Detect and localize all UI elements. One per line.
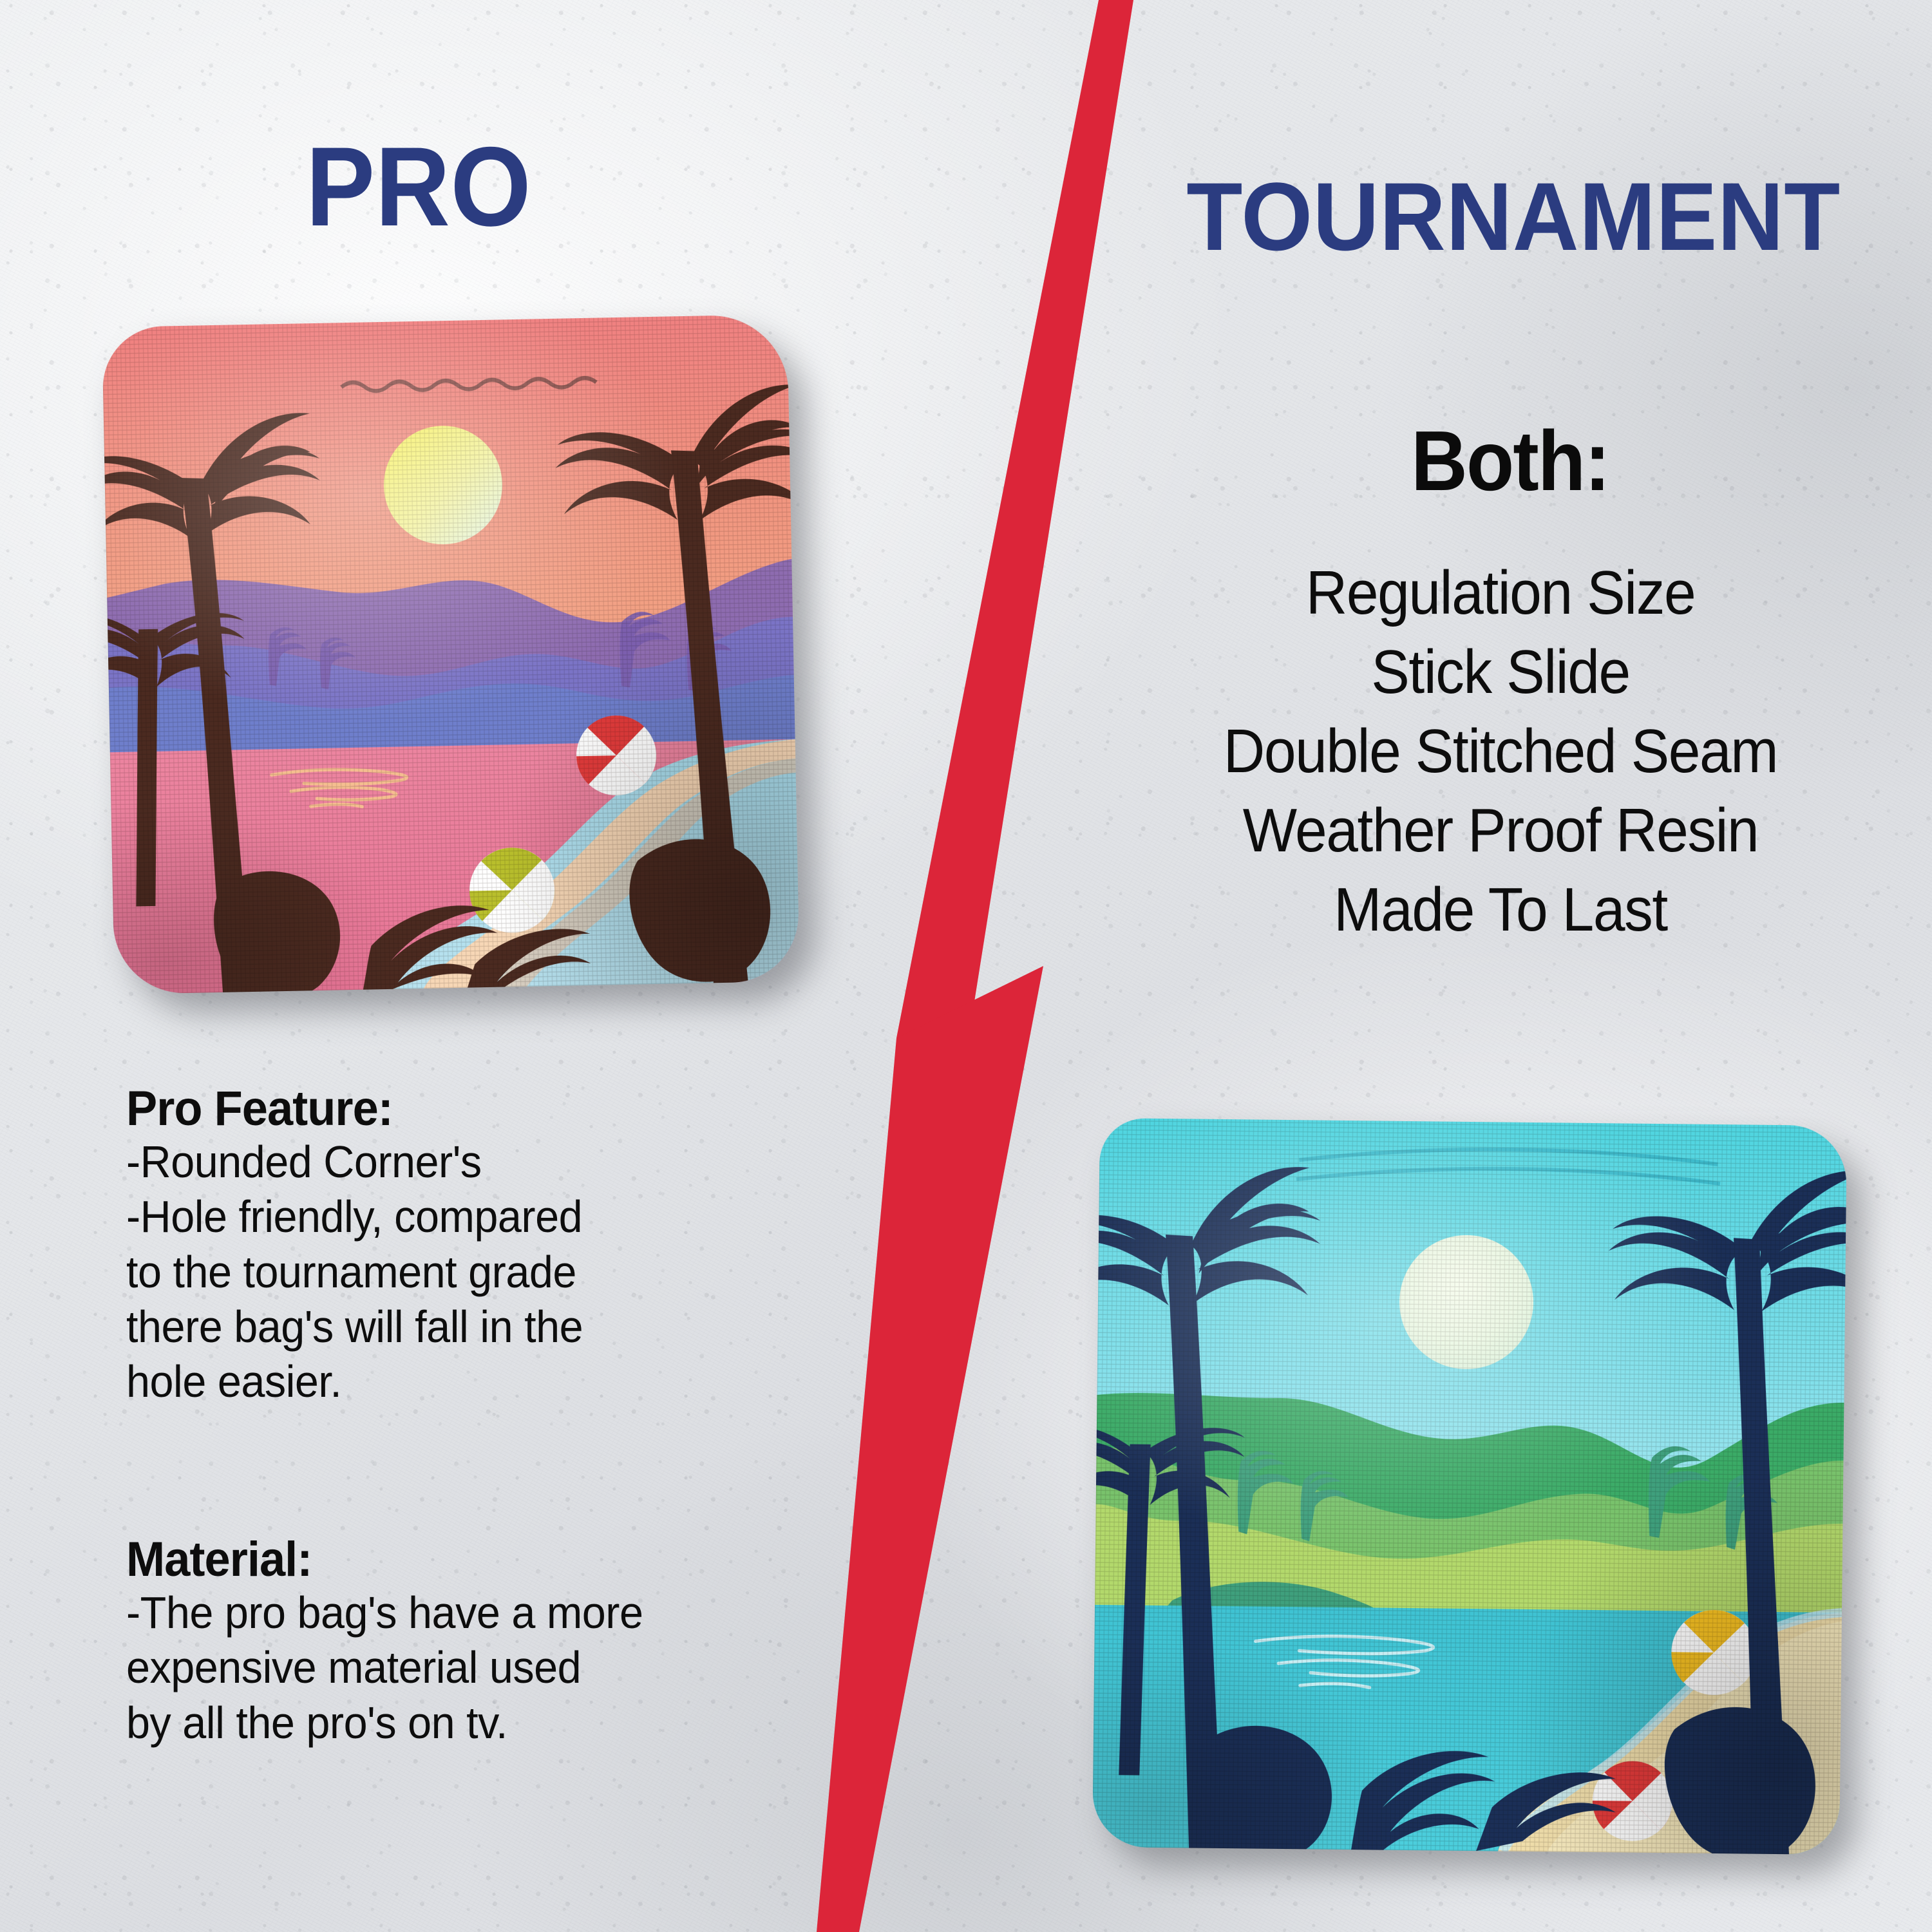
- material-heading: Material:: [126, 1534, 714, 1586]
- material-line: -The pro bag's have a more: [126, 1586, 714, 1640]
- pro-feature-body: -Rounded Corner's -Hole friendly, compar…: [126, 1135, 714, 1410]
- tournament-bag-image: [1092, 1118, 1847, 1855]
- pro-column-title: PRO: [33, 122, 804, 252]
- pro-feature-line: -Hole friendly, compared: [126, 1189, 714, 1244]
- pro-feature-line: hole easier.: [126, 1354, 714, 1409]
- tournament-column-title: TOURNAMENT: [1116, 161, 1911, 272]
- both-feature-item: Stick Slide: [1099, 633, 1902, 712]
- material-section: Material: -The pro bag's have a more exp…: [126, 1534, 714, 1750]
- both-heading: Both:: [1128, 412, 1893, 509]
- tournament-bag-artwork: [1092, 1118, 1847, 1855]
- material-body: -The pro bag's have a more expensive mat…: [126, 1586, 714, 1750]
- both-feature-list: Regulation Size Stick Slide Double Stitc…: [1099, 554, 1902, 949]
- pro-feature-section: Pro Feature: -Rounded Corner's -Hole fri…: [126, 1083, 714, 1410]
- material-line: by all the pro's on tv.: [126, 1696, 714, 1750]
- pro-bag-image: [102, 314, 800, 994]
- comparison-graphic: PRO TOURNAMENT: [0, 0, 1932, 1932]
- both-feature-item: Regulation Size: [1099, 554, 1902, 633]
- material-line: expensive material used: [126, 1640, 714, 1695]
- pro-feature-line: there bag's will fall in the: [126, 1300, 714, 1354]
- bolt-upper-segment: [896, 0, 1133, 1038]
- pro-bag-artwork: [102, 314, 800, 994]
- both-feature-item: Made To Last: [1099, 871, 1902, 950]
- pro-feature-line: to the tournament grade: [126, 1245, 714, 1300]
- both-feature-item: Double Stitched Seam: [1099, 712, 1902, 791]
- both-feature-item: Weather Proof Resin: [1099, 791, 1902, 871]
- pro-feature-heading: Pro Feature:: [126, 1083, 714, 1135]
- pro-feature-line: -Rounded Corner's: [126, 1135, 714, 1189]
- bolt-lower-segment: [817, 966, 1043, 1932]
